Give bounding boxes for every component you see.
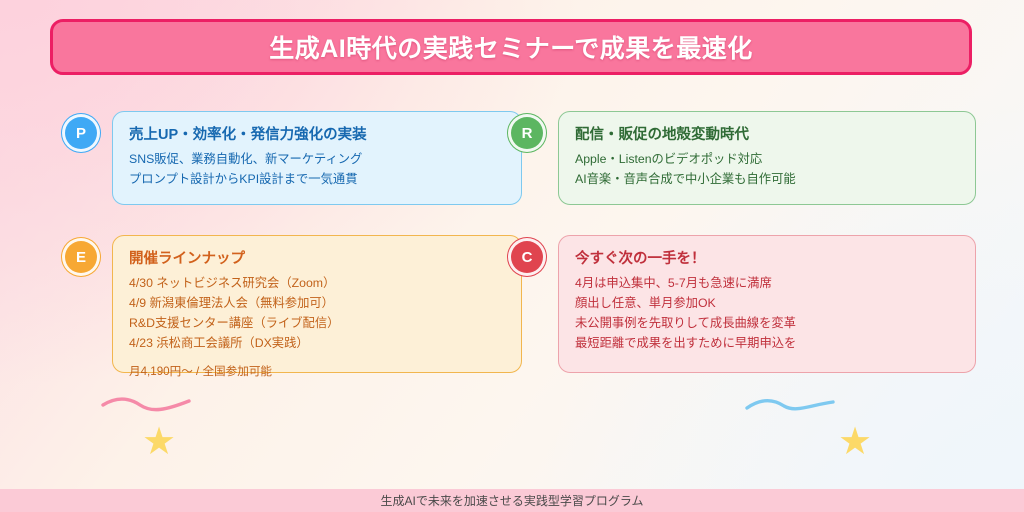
card-r-line-2: AI音楽・音声合成で中小企業も自作可能 — [575, 170, 959, 190]
card-grid: P 売上UP・効率化・発信力強化の実装 SNS販促、業務自動化、新マーケティング… — [0, 0, 1024, 512]
card-e-body: 開催ラインナップ 4/30 ネットビジネス研究会（Zoom） 4/9 新潟東倫理… — [112, 235, 522, 373]
card-c-title: 今すぐ次の一手を！ — [575, 247, 959, 268]
card-c-line-2: 顔出し任意、単月参加OK — [575, 294, 959, 314]
card-c-line-3: 未公開事例を先取りして成長曲線を変革 — [575, 314, 959, 334]
badge-p: P — [62, 114, 100, 152]
card-p-body: 売上UP・効率化・発信力強化の実装 SNS販促、業務自動化、新マーケティング プ… — [112, 111, 522, 205]
card-c-line-1: 4月は申込集中、5-7月も急速に満席 — [575, 274, 959, 294]
card-r[interactable]: R 配信・販促の地殻変動時代 Apple・Listenのビデオポッド対応 AI音… — [508, 105, 976, 205]
footer-text: 生成AIで未来を加速させる実践型学習プログラム — [381, 492, 644, 509]
card-p-line-1: SNS販促、業務自動化、新マーケティング — [129, 150, 505, 170]
card-p-title: 売上UP・効率化・発信力強化の実装 — [129, 123, 505, 144]
card-e-line-2: 4/9 新潟東倫理法人会（無料参加可） — [129, 294, 505, 314]
card-e-note: 月4,190円〜 / 全国参加可能 — [129, 363, 505, 379]
card-e[interactable]: E 開催ラインナップ 4/30 ネットビジネス研究会（Zoom） 4/9 新潟東… — [62, 229, 522, 373]
card-r-line-1: Apple・Listenのビデオポッド対応 — [575, 150, 959, 170]
card-e-line-3: R&D支援センター講座（ライブ配信） — [129, 314, 505, 334]
badge-e: E — [62, 238, 100, 276]
card-c-body: 今すぐ次の一手を！ 4月は申込集中、5-7月も急速に満席 顔出し任意、単月参加O… — [558, 235, 976, 373]
card-e-line-1: 4/30 ネットビジネス研究会（Zoom） — [129, 274, 505, 294]
badge-r: R — [508, 114, 546, 152]
card-r-body: 配信・販促の地殻変動時代 Apple・Listenのビデオポッド対応 AI音楽・… — [558, 111, 976, 205]
card-p-line-2: プロンプト設計からKPI設計まで一気通貫 — [129, 170, 505, 190]
card-c-line-4: 最短距離で成果を出すために早期申込を — [575, 334, 959, 354]
card-e-title: 開催ラインナップ — [129, 247, 505, 268]
badge-c: C — [508, 238, 546, 276]
card-c[interactable]: C 今すぐ次の一手を！ 4月は申込集中、5-7月も急速に満席 顔出し任意、単月参… — [508, 229, 976, 373]
card-e-line-4: 4/23 浜松商工会議所（DX実践） — [129, 334, 505, 354]
card-r-title: 配信・販促の地殻変動時代 — [575, 123, 959, 144]
footer-band: 生成AIで未来を加速させる実践型学習プログラム — [0, 489, 1024, 512]
card-p[interactable]: P 売上UP・効率化・発信力強化の実装 SNS販促、業務自動化、新マーケティング… — [62, 105, 522, 205]
